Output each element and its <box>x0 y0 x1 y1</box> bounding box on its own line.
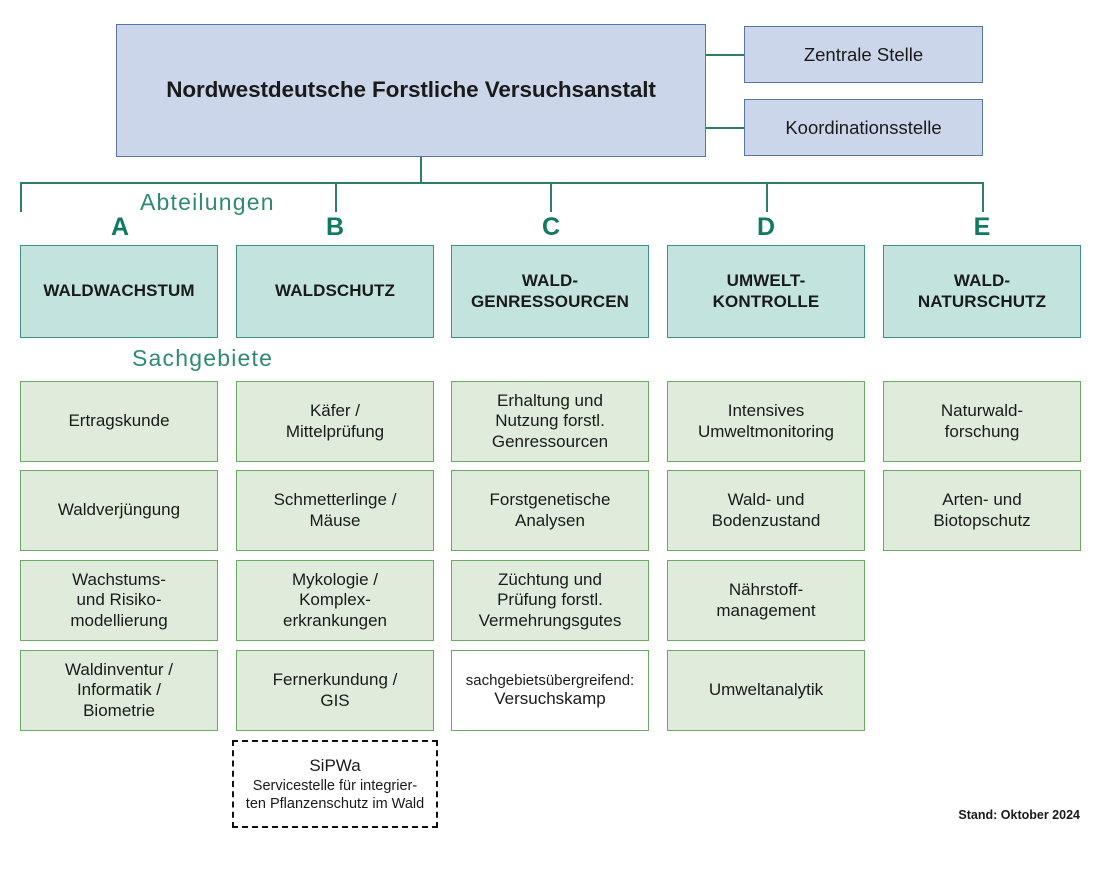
subject-box-d-2[interactable]: Wald- und Bodenzustand <box>667 470 865 551</box>
subject-box-e-1[interactable]: Naturwald- forschung <box>883 381 1081 462</box>
department-letter-a: A <box>100 213 140 242</box>
side-unit-zentrale-stelle[interactable]: Zentrale Stelle <box>744 26 983 83</box>
subject-box-b-2[interactable]: Schmetterlinge / Mäuse <box>236 470 434 551</box>
department-letter-b: B <box>315 213 355 242</box>
connector-drop-d <box>766 182 768 212</box>
department-box-waldschutz[interactable]: WALDSCHUTZ <box>236 245 434 338</box>
department-letter-d: D <box>746 213 786 242</box>
root-organization-box[interactable]: Nordwestdeutsche Forstliche Versuchsanst… <box>116 24 706 157</box>
subject-box-b-4[interactable]: Fernerkundung / GIS <box>236 650 434 731</box>
sipwa-box[interactable]: SiPWa Servicestelle für integrier- ten P… <box>232 740 438 828</box>
connector-drop-a <box>20 182 22 212</box>
department-letter-e: E <box>962 213 1002 242</box>
subject-box-c-3[interactable]: Züchtung und Prüfung forstl. Vermehrungs… <box>451 560 649 641</box>
subject-box-b-1[interactable]: Käfer / Mittelprüfung <box>236 381 434 462</box>
subject-box-c-2[interactable]: Forstgenetische Analysen <box>451 470 649 551</box>
versuchskamp-prefix-label: sachgebietsübergreifend: <box>466 672 634 690</box>
caption-sachgebiete: Sachgebiete <box>132 345 273 372</box>
subject-box-a-3[interactable]: Wachstums- und Risiko- modellierung <box>20 560 218 641</box>
department-box-waldgenressourcen[interactable]: WALD- GENRESSOURCEN <box>451 245 649 338</box>
department-letter-c: C <box>531 213 571 242</box>
subject-box-c-versuchskamp[interactable]: sachgebietsübergreifend: Versuchskamp <box>451 650 649 731</box>
connector-root-to-zentrale-stelle <box>706 54 744 56</box>
sipwa-subtitle: Servicestelle für integrier- ten Pflanze… <box>246 777 424 813</box>
connector-root-to-koordinationsstelle <box>706 127 744 129</box>
department-box-umweltkontrolle[interactable]: UMWELT- KONTROLLE <box>667 245 865 338</box>
subject-box-c-1[interactable]: Erhaltung und Nutzung forstl. Genressour… <box>451 381 649 462</box>
subject-box-d-3[interactable]: Nährstoff- management <box>667 560 865 641</box>
connector-root-drop <box>420 157 422 183</box>
side-unit-koordinationsstelle[interactable]: Koordinationsstelle <box>744 99 983 156</box>
date-stamp: Stand: Oktober 2024 <box>958 808 1080 822</box>
connector-drop-b <box>335 182 337 212</box>
department-box-waldnaturschutz[interactable]: WALD- NATURSCHUTZ <box>883 245 1081 338</box>
subject-box-e-2[interactable]: Arten- und Biotopschutz <box>883 470 1081 551</box>
caption-abteilungen: Abteilungen <box>140 189 275 216</box>
versuchskamp-main-label: Versuchskamp <box>494 689 606 709</box>
subject-box-a-2[interactable]: Waldverjüngung <box>20 470 218 551</box>
connector-department-bus <box>20 182 983 184</box>
department-box-waldwachstum[interactable]: WALDWACHSTUM <box>20 245 218 338</box>
connector-drop-e <box>982 182 984 212</box>
subject-box-d-4[interactable]: Umweltanalytik <box>667 650 865 731</box>
connector-drop-c <box>550 182 552 212</box>
sipwa-title: SiPWa <box>309 755 360 776</box>
subject-box-a-4[interactable]: Waldinventur / Informatik / Biometrie <box>20 650 218 731</box>
org-chart: Nordwestdeutsche Forstliche Versuchsanst… <box>0 0 1100 876</box>
subject-box-a-1[interactable]: Ertragskunde <box>20 381 218 462</box>
subject-box-b-3[interactable]: Mykologie / Komplex- erkrankungen <box>236 560 434 641</box>
subject-box-d-1[interactable]: Intensives Umweltmonitoring <box>667 381 865 462</box>
